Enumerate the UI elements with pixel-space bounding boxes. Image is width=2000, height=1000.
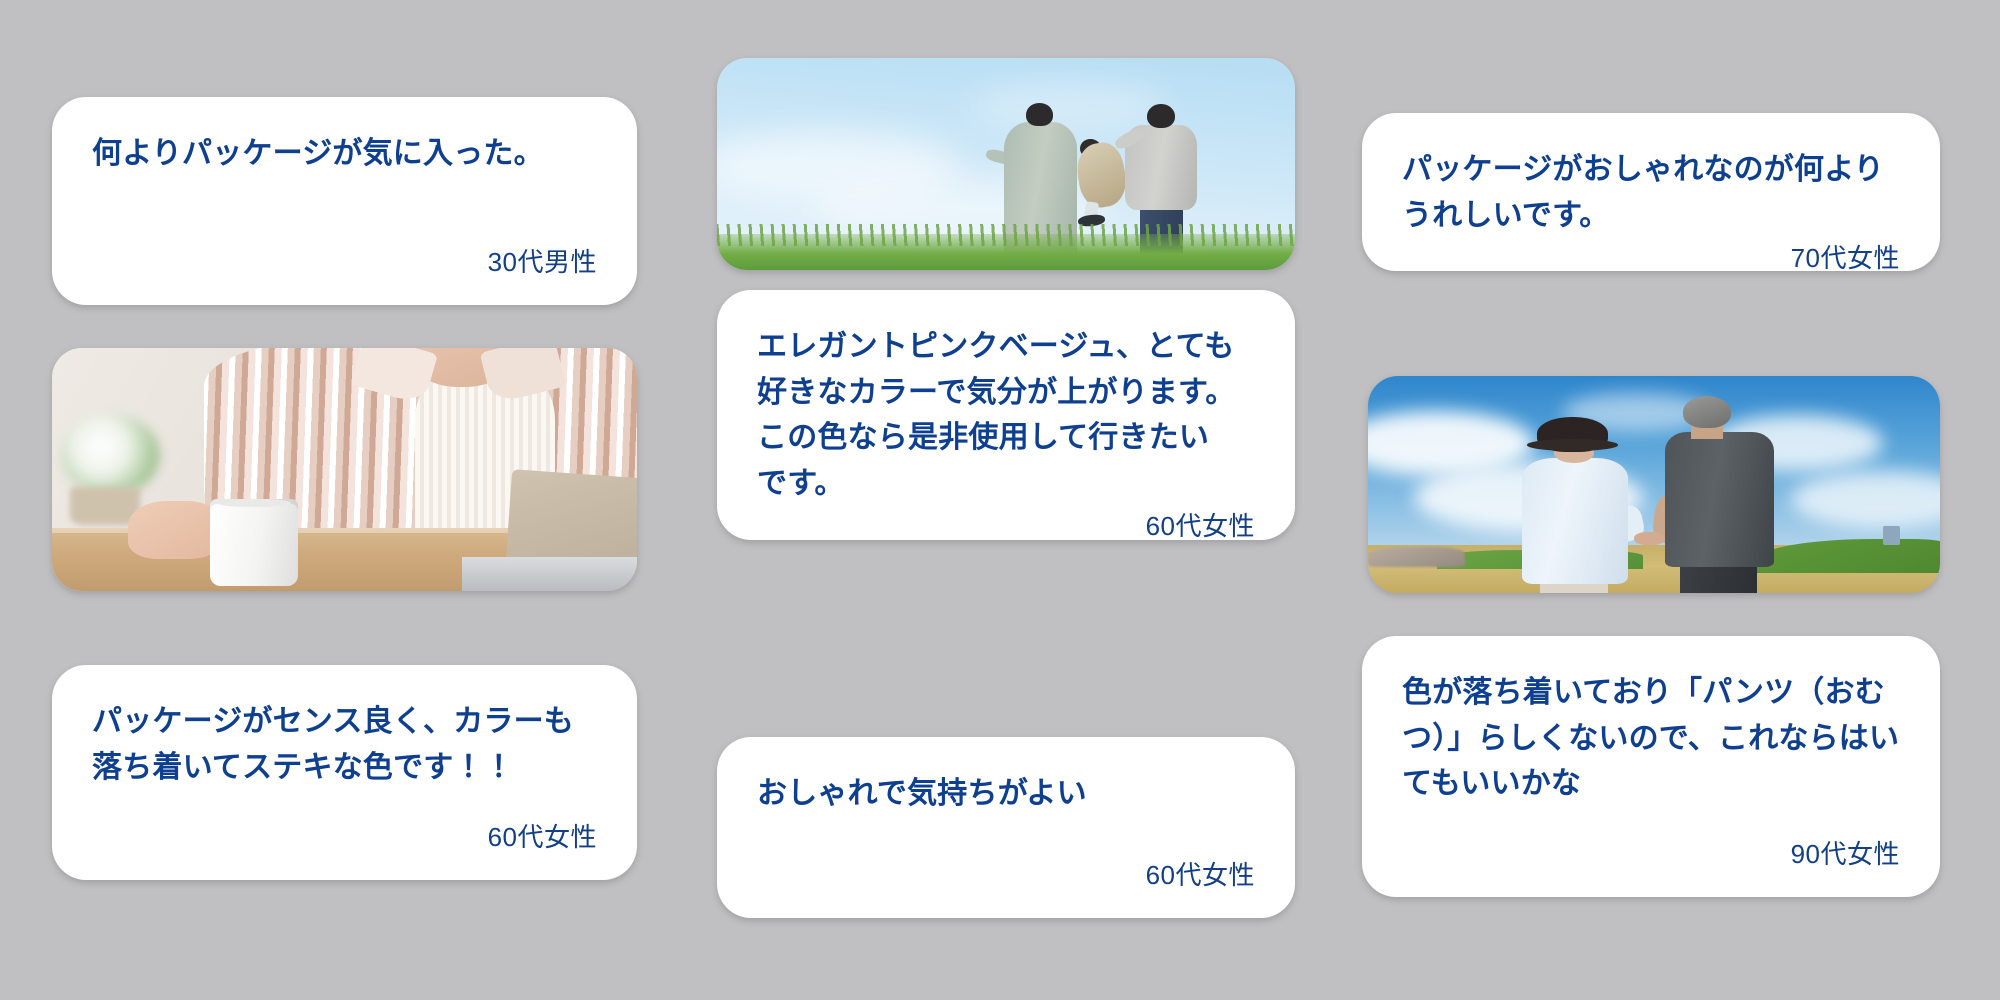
photo-card-woman-with-mug-at-laptop [52,348,637,591]
testimonial-attribution: 60代女性 [757,855,1255,892]
testimonial-attribution: 60代女性 [92,817,597,854]
testimonial-card-left-2: パッケージがセンス良く、カラーも 落ち着いてステキな色です！！ 60代女性 [52,665,637,880]
photo-family-walking-in-field [717,58,1295,270]
testimonial-quote: 色が落ち着いており「パンツ（おむ つ）」らしくないので、これならはい てもいいか… [1402,670,1900,807]
testimonial-quote: エレガントピンクベージュ、とても 好きなカラーで気分が上がります。 この色なら是… [757,324,1255,506]
photo-card-family-walking-in-field [717,58,1295,270]
testimonial-card-middle-2: おしゃれで気持ちがよい 60代女性 [717,737,1295,918]
photo-card-senior-couple-holding-hands [1368,376,1940,593]
testimonial-attribution: 60代女性 [757,506,1255,540]
testimonial-card-middle-1: エレガントピンクベージュ、とても 好きなカラーで気分が上がります。 この色なら是… [717,290,1295,540]
testimonial-card-right-1: パッケージがおしゃれなのが何より うれしいです。 70代女性 [1362,113,1940,271]
photo-woman-with-mug-at-laptop [52,348,637,591]
testimonial-card-left-1: 何よりパッケージが気に入った。 30代男性 [52,97,637,305]
testimonial-quote: パッケージがセンス良く、カラーも 落ち着いてステキな色です！！ [92,699,597,790]
photo-senior-couple-holding-hands [1368,376,1940,593]
testimonial-board: 何よりパッケージが気に入った。 30代男性 パッケージがセンス良く、カラーも 落… [0,0,2000,1000]
testimonial-quote: 何よりパッケージが気に入った。 [92,131,597,177]
testimonial-attribution: 70代女性 [1402,238,1900,271]
testimonial-attribution: 30代男性 [92,242,597,279]
testimonial-quote: おしゃれで気持ちがよい [757,771,1255,817]
testimonial-quote: パッケージがおしゃれなのが何より うれしいです。 [1402,147,1900,238]
testimonial-card-right-2: 色が落ち着いており「パンツ（おむ つ）」らしくないので、これならはい てもいいか… [1362,636,1940,897]
testimonial-attribution: 90代女性 [1402,834,1900,871]
